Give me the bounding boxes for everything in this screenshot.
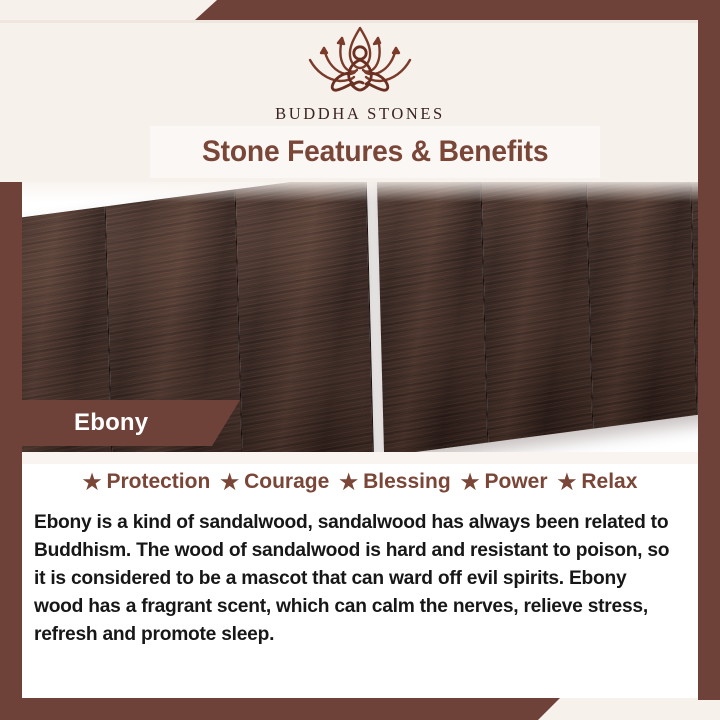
description-text: Ebony is a kind of sandalwood, sandalwoo… — [34, 508, 674, 648]
page-title: Stone Features & Benefits — [202, 135, 548, 169]
benefit-label: Blessing — [363, 470, 451, 494]
frame-right-band — [698, 0, 720, 700]
star-icon: ★ — [461, 472, 480, 493]
star-icon: ★ — [339, 472, 358, 493]
frame-hairline — [0, 20, 698, 23]
wood-slab-right — [376, 178, 720, 456]
benefit-item: ★Protection — [78, 470, 216, 494]
title-banner: Stone Features & Benefits — [150, 126, 600, 178]
benefit-label: Power — [484, 470, 547, 494]
infographic-page: BUDDHA STONES Stone Features & Benefits … — [0, 0, 720, 720]
benefit-label: Protection — [106, 470, 210, 494]
star-icon: ★ — [558, 472, 577, 493]
benefit-item: ★Relax — [553, 470, 643, 494]
brand-logo: BUDDHA STONES — [0, 22, 720, 124]
wood-plank — [480, 178, 593, 442]
product-label-banner: Ebony — [0, 400, 240, 446]
wood-plank — [236, 178, 374, 462]
lotus-meditation-figure-icon — [286, 22, 434, 100]
star-icon: ★ — [83, 472, 102, 493]
content-card: ★Protection★Courage★Blessing★Power★Relax… — [22, 452, 698, 698]
star-icon: ★ — [220, 472, 239, 493]
benefit-label: Courage — [244, 470, 329, 494]
benefit-label: Relax — [581, 470, 637, 494]
frame-bottom-band — [0, 698, 560, 720]
product-label: Ebony — [74, 409, 148, 437]
wood-plank — [376, 178, 489, 456]
frame-top-band — [195, 0, 720, 20]
benefits-row: ★Protection★Courage★Blessing★Power★Relax — [22, 470, 698, 494]
brand-wordmark: BUDDHA STONES — [275, 104, 445, 124]
benefit-item: ★Power — [456, 470, 553, 494]
card-top-tint — [22, 452, 698, 464]
wood-plank — [584, 178, 697, 429]
frame-left-band — [0, 182, 22, 720]
benefit-item: ★Blessing — [334, 470, 455, 494]
benefit-item: ★Courage — [215, 470, 334, 494]
